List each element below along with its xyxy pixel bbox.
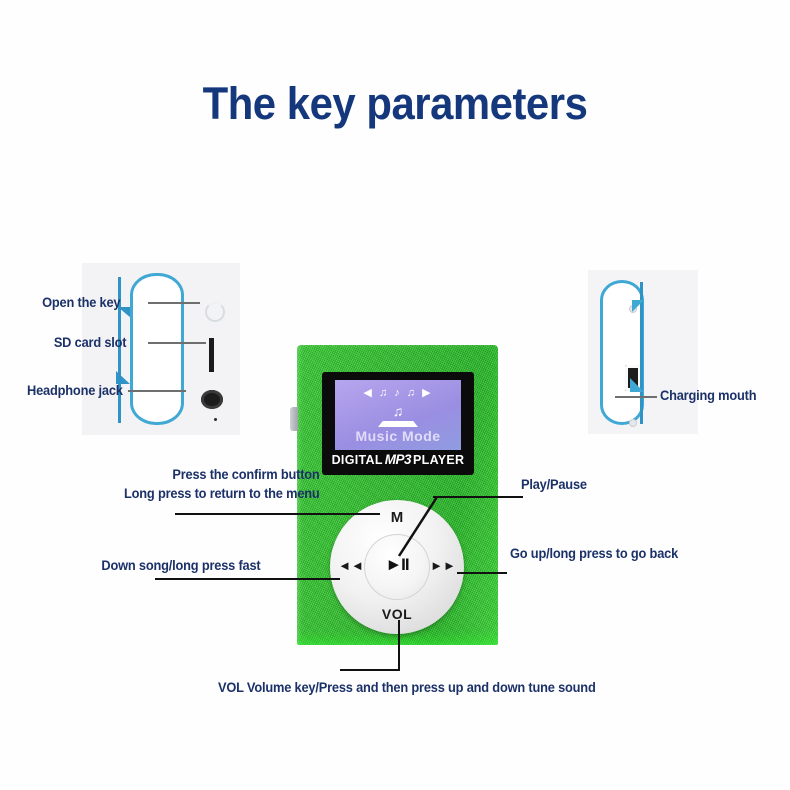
label-confirm-line2: Long press to return to the menu [124, 484, 320, 503]
side-button[interactable] [290, 407, 298, 431]
key-parameters-diagram: The key parameters Open the key SD card … [0, 0, 790, 790]
open-key-hook-icon [205, 302, 225, 322]
brand-player: PLAYER [413, 453, 464, 467]
lcd-mode-text: Music Mode [335, 428, 461, 444]
label-charging-mouth: Charging mouth [660, 388, 756, 403]
previous-button-label[interactable]: ◄◄ [338, 558, 364, 573]
label-down-song: Down song/long press fast [101, 558, 260, 573]
clip-wedge-right-bottom-icon [630, 378, 644, 392]
right-side-view-inset [588, 270, 698, 434]
lcd-screen: ◀ ♫ ♪ ♫ ▶ ♫ Music Mode [335, 380, 461, 450]
label-go-up: Go up/long press to go back [510, 546, 678, 561]
leader-play-pause-diagonal [395, 494, 439, 558]
label-headphone-jack: Headphone jack [27, 383, 123, 398]
volume-button-label[interactable]: VOL [330, 606, 464, 622]
leader-play-pause-h [433, 496, 523, 498]
lcd-music-note-icon: ♫ [335, 404, 461, 418]
leader-down-song [155, 578, 340, 580]
label-confirm-line1: Press the confirm button [124, 465, 320, 484]
leader-volume-horizontal [340, 669, 400, 671]
lcd-pedestal-icon [378, 421, 418, 427]
headphone-jack-icon [201, 390, 223, 409]
label-sd-card-slot: SD card slot [54, 335, 127, 350]
label-open-the-key: Open the key [42, 295, 120, 310]
label-volume: VOL Volume key/Press and then press up a… [218, 680, 596, 695]
brand-line: DIGITALMP3PLAYER [322, 452, 474, 467]
clip-wedge-right-top-icon [632, 300, 644, 312]
screen-bezel: ◀ ♫ ♪ ♫ ▶ ♫ Music Mode DIGITALMP3PLAYER [322, 372, 474, 475]
leader-volume-vertical [398, 620, 400, 670]
label-play-pause: Play/Pause [521, 477, 587, 492]
screw-bottom-icon [629, 419, 637, 427]
device-side-body [130, 273, 184, 425]
label-confirm-button: Press the confirm button Long press to r… [124, 465, 320, 503]
lcd-top-menu-bar: ◀ ♫ ♪ ♫ ▶ [335, 387, 461, 399]
play-pause-label[interactable]: ►II [364, 555, 430, 575]
leader-go-up [457, 572, 507, 574]
sd-card-slot-icon [209, 338, 214, 372]
brand-digital: DIGITAL [332, 453, 383, 467]
page-title: The key parameters [28, 78, 763, 130]
reset-pinhole-icon [214, 418, 217, 421]
leader-sd-card [148, 342, 206, 344]
leader-charging-mouth [615, 396, 657, 398]
leader-open-key [148, 302, 200, 304]
leader-confirm-button [175, 513, 380, 515]
brand-mp3: MP3 [383, 452, 413, 467]
leader-headphone [128, 390, 186, 392]
next-button-label[interactable]: ►► [430, 558, 456, 573]
